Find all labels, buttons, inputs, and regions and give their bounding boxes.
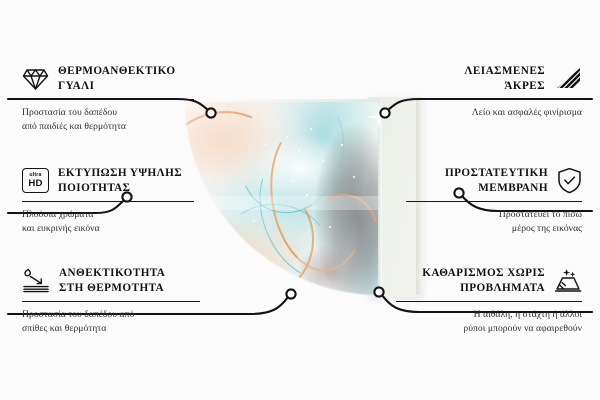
feature-title: ΑΝΘΕΚΤΙΚΟΤΗΤΑ ΣΤΗ ΘΕΡΜΟΤΗΤΑ (59, 266, 165, 296)
flame-deflect-icon (22, 268, 50, 293)
feature-body-line: Προστατεύει το πίσω (406, 208, 582, 222)
feature-title-line: ΕΚΤΥΠΩΣΗ ΥΨΗΛΗΣ (58, 166, 182, 181)
feature-title-line: ΜΕΜΒΡΑΝΗ (445, 181, 548, 196)
feature-divider (406, 99, 582, 101)
feature-body: Λείο και ασφαλές φινίρισμα (406, 106, 582, 120)
feature-title-line: ΆΚΡΕΣ (464, 79, 545, 94)
feature-heat-resistant-glass: ΘΕΡΜΟΑΝΘΕΚΤΙΚΟ ΓΥΑΛΙ Προστασία του δαπέδ… (22, 64, 194, 134)
infographic-canvas: ΘΕΡΜΟΑΝΘΕΚΤΙΚΟ ΓΥΑΛΙ Προστασία του δαπέδ… (0, 0, 600, 400)
feature-body: Προστατεύει το πίσω μέρος της εικόνας (406, 208, 582, 236)
feature-header: ΛΕΙΑΣΜΕΝΕΣ ΆΚΡΕΣ (406, 64, 582, 94)
feature-title-line: ΑΝΘΕΚΤΙΚΟΤΗΤΑ (59, 266, 165, 281)
feature-body-line: από παιδιές και θερμότητα (22, 120, 194, 134)
feature-title-line: ΓΥΑΛΙ (58, 79, 176, 94)
feature-body-line: Η αιθάλη, η στάχτη ή άλλοι (396, 308, 582, 322)
shield-check-icon (557, 167, 582, 194)
feature-divider (22, 99, 194, 101)
feature-title: ΘΕΡΜΟΑΝΘΕΚΤΙΚΟ ΓΥΑΛΙ (58, 64, 176, 94)
feature-high-quality-print: ultra HD ΕΚΤΥΠΩΣΗ ΥΨΗΛΗΣ ΠΟΙΟΤΗΤΑΣ Πλούσ… (22, 166, 194, 236)
feature-title: ΠΡΟΣΤΑΤΕΥΤΙΚΗ ΜΕΜΒΡΑΝΗ (445, 166, 548, 196)
feature-divider (396, 301, 582, 303)
diamond-icon (22, 67, 49, 91)
feature-body-line: Προστασία του δαπέδου (22, 106, 194, 120)
feature-body-line: και ευκρινής εικόνα (22, 222, 194, 236)
feature-body: Η αιθάλη, η στάχτη ή άλλοι ρύποι μπορούν… (396, 308, 582, 336)
feature-body-line: σπίθες και θερμότητα (22, 322, 200, 336)
feature-title-line: ΠΡΟΒΛΗΜΑΤΑ (422, 281, 545, 296)
feature-body-line: Πλούσια χρώματα (22, 208, 194, 222)
feature-title: ΛΕΙΑΣΜΕΝΕΣ ΆΚΡΕΣ (464, 64, 545, 94)
feature-header: ΠΡΟΣΤΑΤΕΥΤΙΚΗ ΜΕΜΒΡΑΝΗ (406, 166, 582, 196)
feature-title-line: ΛΕΙΑΣΜΕΝΕΣ (464, 64, 545, 79)
feature-body-line: μέρος της εικόνας (406, 222, 582, 236)
feature-header: ultra HD ΕΚΤΥΠΩΣΗ ΥΨΗΛΗΣ ΠΟΙΟΤΗΤΑΣ (22, 166, 194, 196)
feature-title-line: ΘΕΡΜΟΑΝΘΕΚΤΙΚΟ (58, 64, 176, 79)
sponge-sparkle-icon (554, 268, 582, 293)
feature-divider (406, 201, 582, 203)
feature-body-line: Προστασία του δαπέδου από (22, 308, 200, 322)
ultra-hd-icon: ultra HD (22, 168, 49, 193)
feature-body-line: ρύποι μπορούν να αφαιρεθούν (396, 322, 582, 336)
feature-divider (22, 201, 194, 203)
ultra-hd-icon-bottom-label: HD (28, 179, 42, 189)
feature-title: ΕΚΤΥΠΩΣΗ ΥΨΗΛΗΣ ΠΟΙΟΤΗΤΑΣ (58, 166, 182, 196)
feature-title-line: ΚΑΘΑΡΙΣΜΟΣ ΧΩΡΙΣ (422, 266, 545, 281)
connector-dot-4 (380, 108, 389, 117)
feature-title: ΚΑΘΑΡΙΣΜΟΣ ΧΩΡΙΣ ΠΡΟΒΛΗΜΑΤΑ (422, 266, 545, 296)
feature-body: Προστασία του δαπέδου από παιδιές και θε… (22, 106, 194, 134)
feature-easy-cleaning: ΚΑΘΑΡΙΣΜΟΣ ΧΩΡΙΣ ΠΡΟΒΛΗΜΑΤΑ Η αιθάλη, η … (396, 266, 582, 336)
feature-title-line: ΣΤΗ ΘΕΡΜΟΤΗΤΑ (59, 281, 165, 296)
feature-body-line: Λείο και ασφαλές φινίρισμα (406, 106, 582, 120)
feature-title-line: ΠΡΟΣΤΑΤΕΥΤΙΚΗ (445, 166, 548, 181)
feature-body: Προστασία του δαπέδου από σπίθες και θερ… (22, 308, 200, 336)
feature-title-line: ΠΟΙΟΤΗΤΑΣ (58, 181, 182, 196)
feature-body: Πλούσια χρώματα και ευκρινής εικόνα (22, 208, 194, 236)
connector-dot-6 (374, 287, 383, 296)
feature-divider (22, 301, 200, 303)
connector-dot-3 (286, 289, 295, 298)
feature-heat-durability: ΑΝΘΕΚΤΙΚΟΤΗΤΑ ΣΤΗ ΘΕΡΜΟΤΗΤΑ Προστασία το… (22, 266, 200, 336)
connector-dot-1 (206, 108, 215, 117)
striped-triangle-icon (554, 67, 582, 91)
feature-polished-edges: ΛΕΙΑΣΜΕΝΕΣ ΆΚΡΕΣ Λείο και ασφαλές φινίρι… (406, 64, 582, 120)
feature-header: ΘΕΡΜΟΑΝΘΕΚΤΙΚΟ ΓΥΑΛΙ (22, 64, 194, 94)
feature-protective-membrane: ΠΡΟΣΤΑΤΕΥΤΙΚΗ ΜΕΜΒΡΑΝΗ Προστατεύει το πί… (406, 166, 582, 236)
feature-header: ΑΝΘΕΚΤΙΚΟΤΗΤΑ ΣΤΗ ΘΕΡΜΟΤΗΤΑ (22, 266, 200, 296)
feature-header: ΚΑΘΑΡΙΣΜΟΣ ΧΩΡΙΣ ΠΡΟΒΛΗΜΑΤΑ (396, 266, 582, 296)
